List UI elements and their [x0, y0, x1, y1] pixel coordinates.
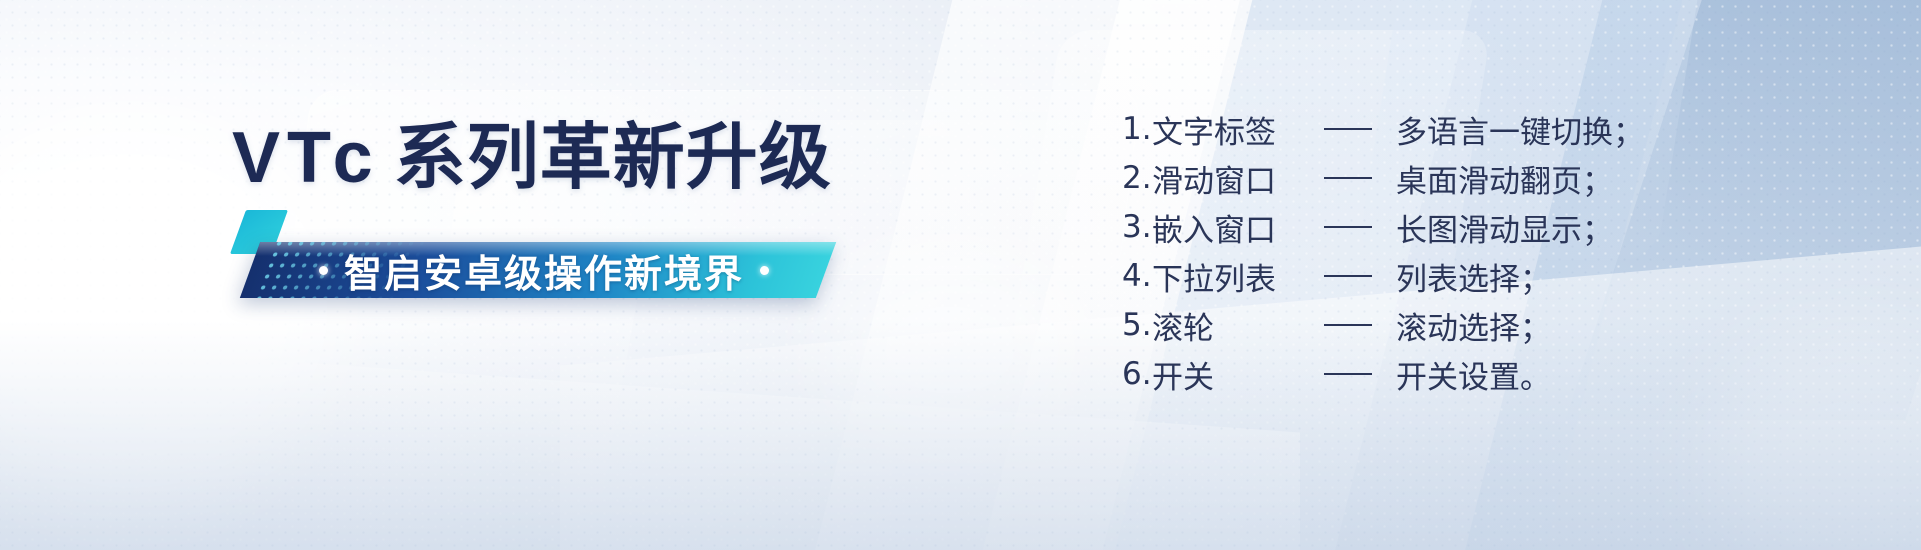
- ribbon-text-row: 智启安卓级操作新境界: [264, 246, 824, 294]
- feature-number: 5.: [1122, 307, 1152, 343]
- feature-item-4: 4. 下拉列表 列表选择；: [1122, 253, 1644, 299]
- feature-dash-icon: [1324, 275, 1396, 277]
- bullet-dot-right-icon: [760, 266, 769, 275]
- feature-description: 桌面滑动翻页；: [1396, 156, 1613, 201]
- feature-item-1: 1. 文字标签 多语言一键切换；: [1122, 106, 1644, 152]
- feature-number: 1.: [1122, 111, 1152, 147]
- feature-dash-icon: [1324, 177, 1396, 179]
- feature-description: 滚动选择；: [1396, 303, 1551, 348]
- feature-item-3: 3. 嵌入窗口 长图滑动显示；: [1122, 204, 1644, 250]
- banner-title-latin: VTc: [232, 118, 380, 198]
- feature-name: 开关: [1152, 352, 1324, 397]
- feature-list: 1. 文字标签 多语言一键切换； 2. 滑动窗口 桌面滑动翻页； 3. 嵌入窗口…: [1122, 106, 1644, 400]
- feature-item-2: 2. 滑动窗口 桌面滑动翻页；: [1122, 155, 1644, 201]
- feature-description: 长图滑动显示；: [1396, 205, 1613, 250]
- feature-item-6: 6. 开关 开关设置。: [1122, 351, 1644, 397]
- feature-number: 6.: [1122, 356, 1152, 392]
- feature-name: 文字标签: [1152, 107, 1324, 152]
- feature-number: 2.: [1122, 160, 1152, 196]
- feature-name: 嵌入窗口: [1152, 205, 1324, 250]
- feature-dash-icon: [1324, 128, 1396, 130]
- promo-banner: VTc系列革新升级 智启安卓级操作新境界 1. 文字标签 多语言一键切换； 2.: [0, 0, 1921, 550]
- feature-description: 多语言一键切换；: [1396, 107, 1644, 152]
- feature-number: 4.: [1122, 258, 1152, 294]
- banner-subtitle-ribbon: 智启安卓级操作新境界: [238, 210, 858, 300]
- feature-description: 列表选择；: [1396, 254, 1551, 299]
- feature-dash-icon: [1324, 324, 1396, 326]
- feature-name: 下拉列表: [1152, 254, 1324, 299]
- feature-dash-icon: [1324, 373, 1396, 375]
- feature-item-5: 5. 滚轮 滚动选择；: [1122, 302, 1644, 348]
- feature-number: 3.: [1122, 209, 1152, 245]
- bullet-dot-left-icon: [319, 266, 328, 275]
- feature-name: 滑动窗口: [1152, 156, 1324, 201]
- banner-subtitle: 智启安卓级操作新境界: [344, 243, 744, 298]
- banner-title-chinese: 系列革新升级: [394, 118, 832, 198]
- feature-description: 开关设置。: [1396, 352, 1551, 397]
- feature-name: 滚轮: [1152, 303, 1324, 348]
- banner-title: VTc系列革新升级: [232, 122, 832, 194]
- feature-dash-icon: [1324, 226, 1396, 228]
- banner-content: VTc系列革新升级 智启安卓级操作新境界 1. 文字标签 多语言一键切换； 2.: [0, 0, 1921, 550]
